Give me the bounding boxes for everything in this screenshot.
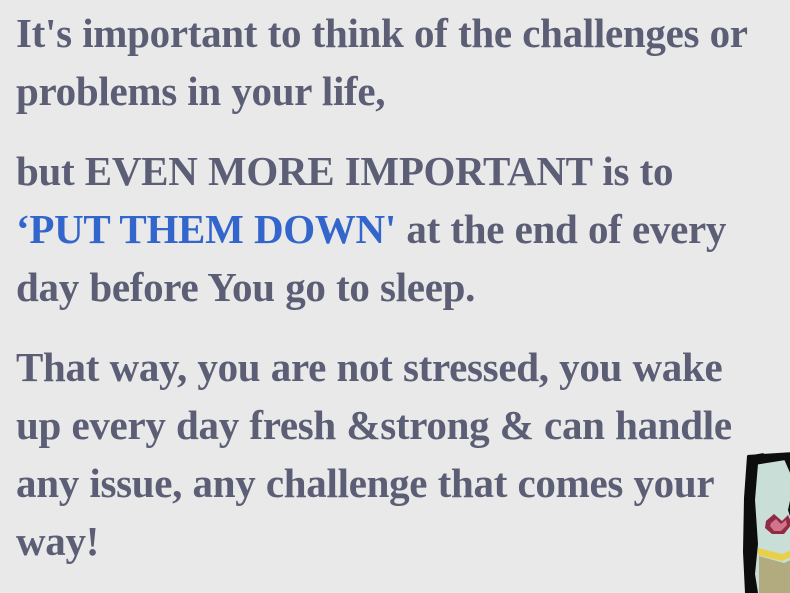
paragraph-2-run-1: but EVEN MORE IMPORTANT is to bbox=[16, 148, 673, 194]
paragraph-3-run-1: That way, you are not stressed, you wake… bbox=[16, 344, 732, 564]
quote-text-block: It's important to think of the challenge… bbox=[16, 4, 768, 570]
cartoon-figure-illustration bbox=[742, 452, 790, 593]
paragraph-1: It's important to think of the challenge… bbox=[16, 4, 768, 120]
paragraph-1-run-1: It's important to think of the challenge… bbox=[16, 10, 747, 114]
slide-canvas: It's important to think of the challenge… bbox=[0, 0, 790, 593]
paragraph-2: but EVEN MORE IMPORTANT is to ‘PUT THEM … bbox=[16, 142, 768, 316]
paragraph-2-highlight-run: ‘PUT THEM DOWN' bbox=[16, 206, 396, 252]
cartoon-figure-icon bbox=[742, 452, 790, 593]
paragraph-3: That way, you are not stressed, you wake… bbox=[16, 338, 768, 570]
